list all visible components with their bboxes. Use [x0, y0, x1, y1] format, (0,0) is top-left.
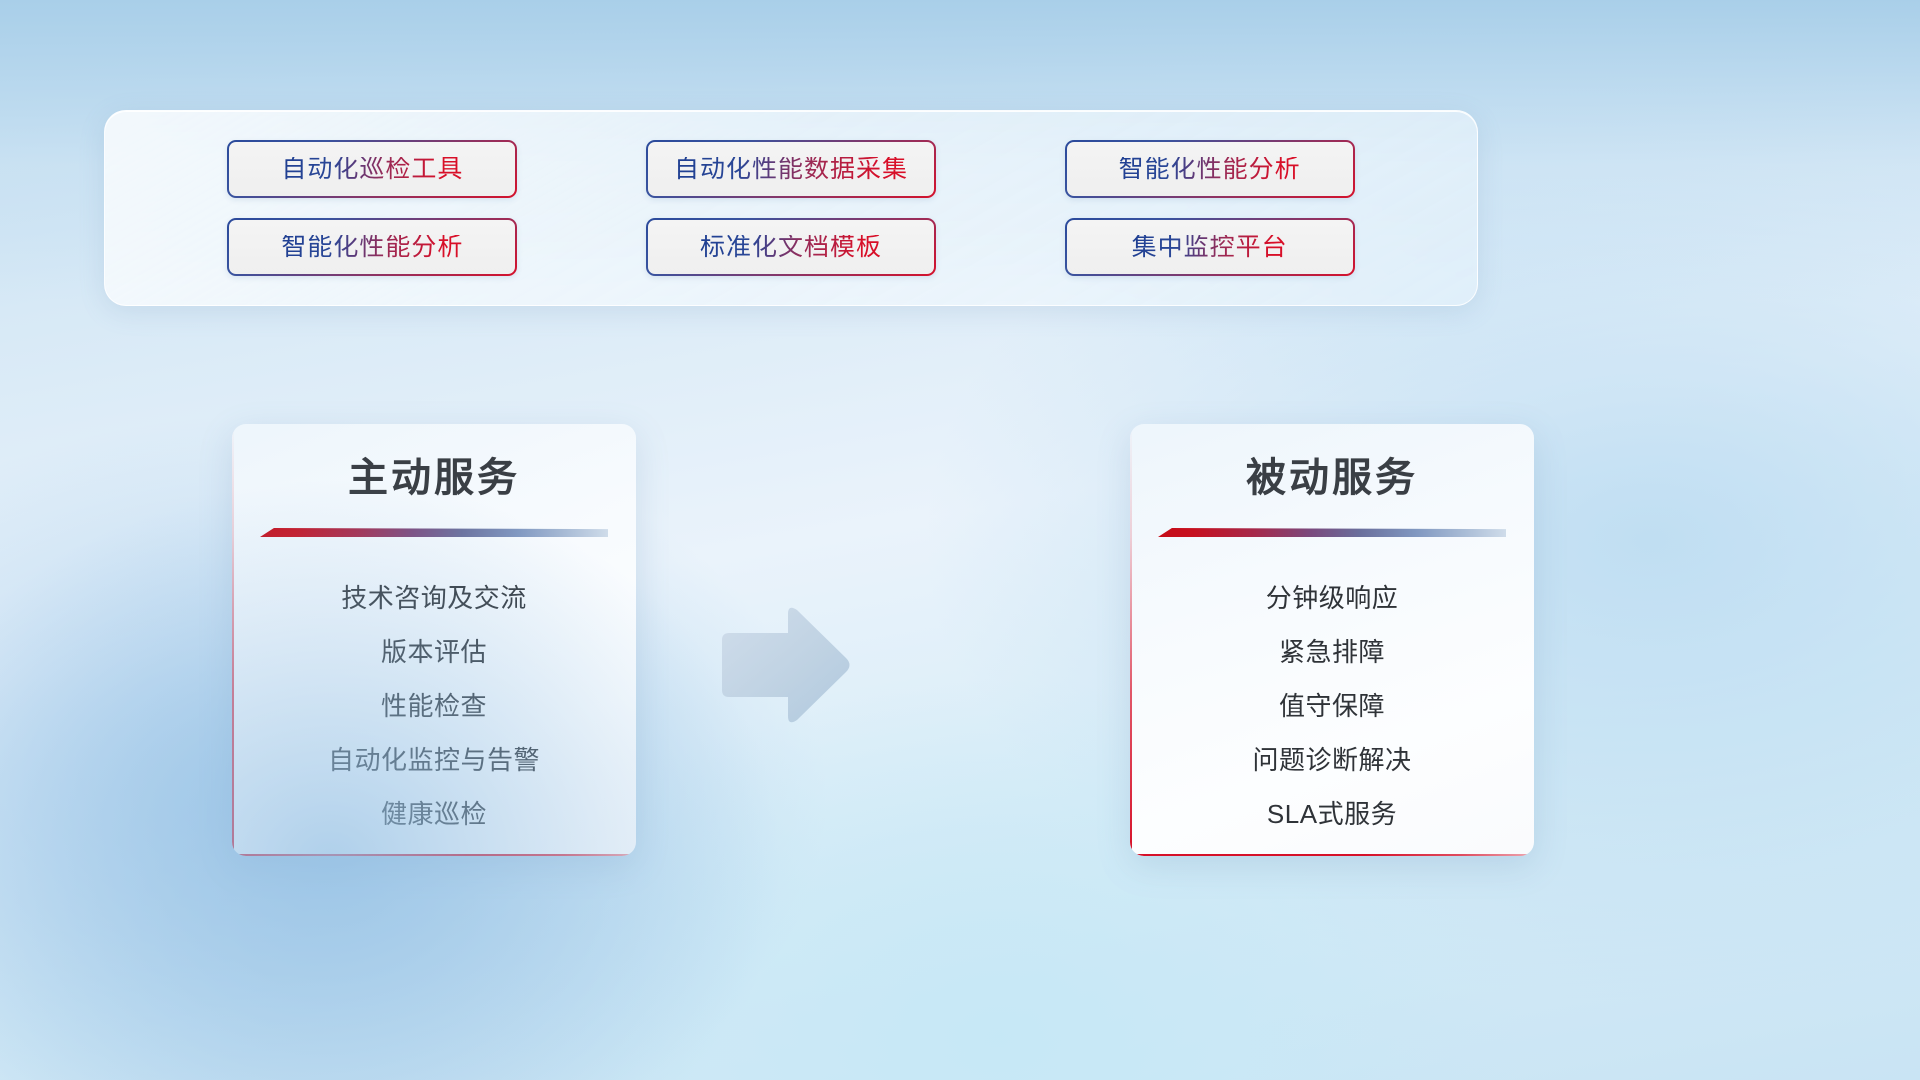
capability-pill-3-body: 智能化性能分析	[1067, 142, 1353, 196]
capability-pill-6-body: 集中监控平台	[1067, 220, 1353, 274]
capability-pill-2-body: 自动化性能数据采集	[648, 142, 934, 196]
service-card-reactive: 被动服务 分钟级响应 紧急排障 值守保障 问题诊断解决 SLA式服务	[1130, 424, 1534, 856]
list-item: 自动化监控与告警	[250, 733, 618, 787]
capability-panel: 自动化巡检工具 自动化性能数据采集 智能化性能分析 智能化性能分析 标准化文档模…	[104, 110, 1478, 306]
list-item: SLA式服务	[1148, 787, 1516, 841]
list-item: 技术咨询及交流	[250, 571, 618, 625]
capability-pill-4-body: 智能化性能分析	[229, 220, 515, 274]
capability-pill-2-label: 自动化性能数据采集	[674, 157, 908, 182]
capability-pill-6[interactable]: 集中监控平台	[1065, 218, 1355, 276]
capability-pill-1-label: 自动化巡检工具	[281, 157, 463, 182]
list-item: 值守保障	[1148, 679, 1516, 733]
list-item: 问题诊断解决	[1148, 733, 1516, 787]
list-item: 健康巡检	[250, 787, 618, 841]
list-item: 紧急排障	[1148, 625, 1516, 679]
diagram-canvas: 自动化巡检工具 自动化性能数据采集 智能化性能分析 智能化性能分析 标准化文档模…	[0, 0, 1920, 1080]
service-card-reactive-divider	[1158, 528, 1506, 537]
arrow-right-icon	[712, 600, 854, 730]
capability-pill-3-label: 智能化性能分析	[1119, 157, 1301, 182]
service-card-reactive-title: 被动服务	[1130, 454, 1534, 502]
capability-pill-2[interactable]: 自动化性能数据采集	[646, 140, 936, 198]
capability-pill-4[interactable]: 智能化性能分析	[227, 218, 517, 276]
service-card-proactive-title: 主动服务	[232, 454, 636, 502]
capability-pill-5-body: 标准化文档模板	[648, 220, 934, 274]
capability-pill-4-label: 智能化性能分析	[281, 235, 463, 260]
capability-pill-5-label: 标准化文档模板	[700, 235, 882, 260]
list-item: 分钟级响应	[1148, 571, 1516, 625]
capability-pill-3[interactable]: 智能化性能分析	[1065, 140, 1355, 198]
capability-pill-1-body: 自动化巡检工具	[229, 142, 515, 196]
list-item: 版本评估	[250, 625, 618, 679]
list-item: 性能检查	[250, 679, 618, 733]
service-card-proactive-divider	[260, 528, 608, 537]
service-card-proactive-list: 技术咨询及交流 版本评估 性能检查 自动化监控与告警 健康巡检	[232, 571, 636, 841]
capability-pill-6-label: 集中监控平台	[1132, 235, 1288, 260]
capability-pill-5[interactable]: 标准化文档模板	[646, 218, 936, 276]
service-card-proactive: 主动服务 技术咨询及交流 版本评估 性能检查 自动化监控与告警 健康巡检	[232, 424, 636, 856]
service-card-reactive-list: 分钟级响应 紧急排障 值守保障 问题诊断解决 SLA式服务	[1130, 571, 1534, 841]
capability-pill-1[interactable]: 自动化巡检工具	[227, 140, 517, 198]
